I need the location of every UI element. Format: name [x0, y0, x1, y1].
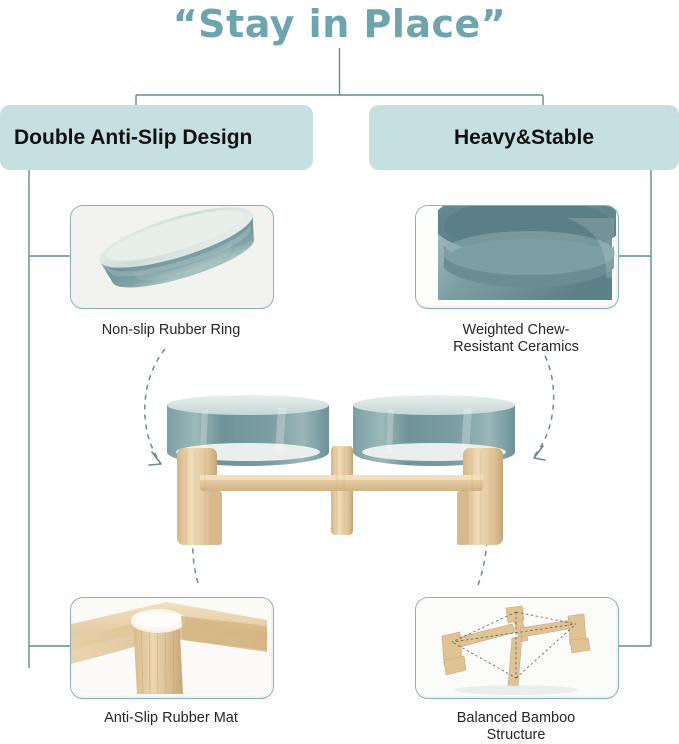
feature-thumb-non-slip-rubber-ring[interactable]: [70, 205, 274, 309]
feature-caption-balanced-bamboo-structure: Balanced Bamboo Structure: [397, 710, 635, 744]
category-pill-label: Double Anti-Slip Design: [0, 126, 313, 150]
ceramic-bowl-interior-photo: [416, 206, 616, 306]
two-teal-ceramic-bowls-on-bamboo-stand: [150, 380, 530, 565]
feature-thumb-balanced-bamboo-structure[interactable]: [415, 597, 619, 699]
bamboo-stand-underside-photo: [416, 598, 616, 696]
caption-line-2: Structure: [487, 727, 546, 743]
feature-thumb-weighted-chew-resistant-ceramics[interactable]: [415, 205, 619, 309]
category-pill-label: Heavy&Stable: [369, 126, 679, 150]
caption-line-2: Resistant Ceramics: [453, 339, 579, 355]
category-pill-double-anti-slip[interactable]: Double Anti-Slip Design: [0, 105, 313, 170]
feature-caption-non-slip-rubber-ring: Non-slip Rubber Ring: [52, 322, 290, 339]
arrow-to-bowl-body-right-head: [534, 446, 545, 460]
page-title: “Stay in Place”: [0, 2, 679, 46]
bamboo-leg-rubber-pad-photo: [71, 598, 271, 696]
caption-line-1: Balanced Bamboo: [457, 710, 576, 726]
feature-caption-weighted-chew-resistant-ceramics: Weighted Chew- Resistant Ceramics: [397, 322, 635, 356]
feature-caption-anti-slip-rubber-mat: Anti-Slip Rubber Mat: [52, 710, 290, 727]
bowl-underside-rubber-ring-photo: [71, 206, 271, 306]
hero-product-image: [150, 380, 530, 565]
feature-thumb-anti-slip-rubber-mat[interactable]: [70, 597, 274, 699]
arrow-to-bowl-body-right-path: [534, 356, 554, 456]
caption-line-1: Weighted Chew-: [463, 322, 570, 338]
infographic-root: “Stay in Place”: [0, 0, 679, 742]
category-pill-heavy-stable[interactable]: Heavy&Stable: [369, 105, 679, 170]
